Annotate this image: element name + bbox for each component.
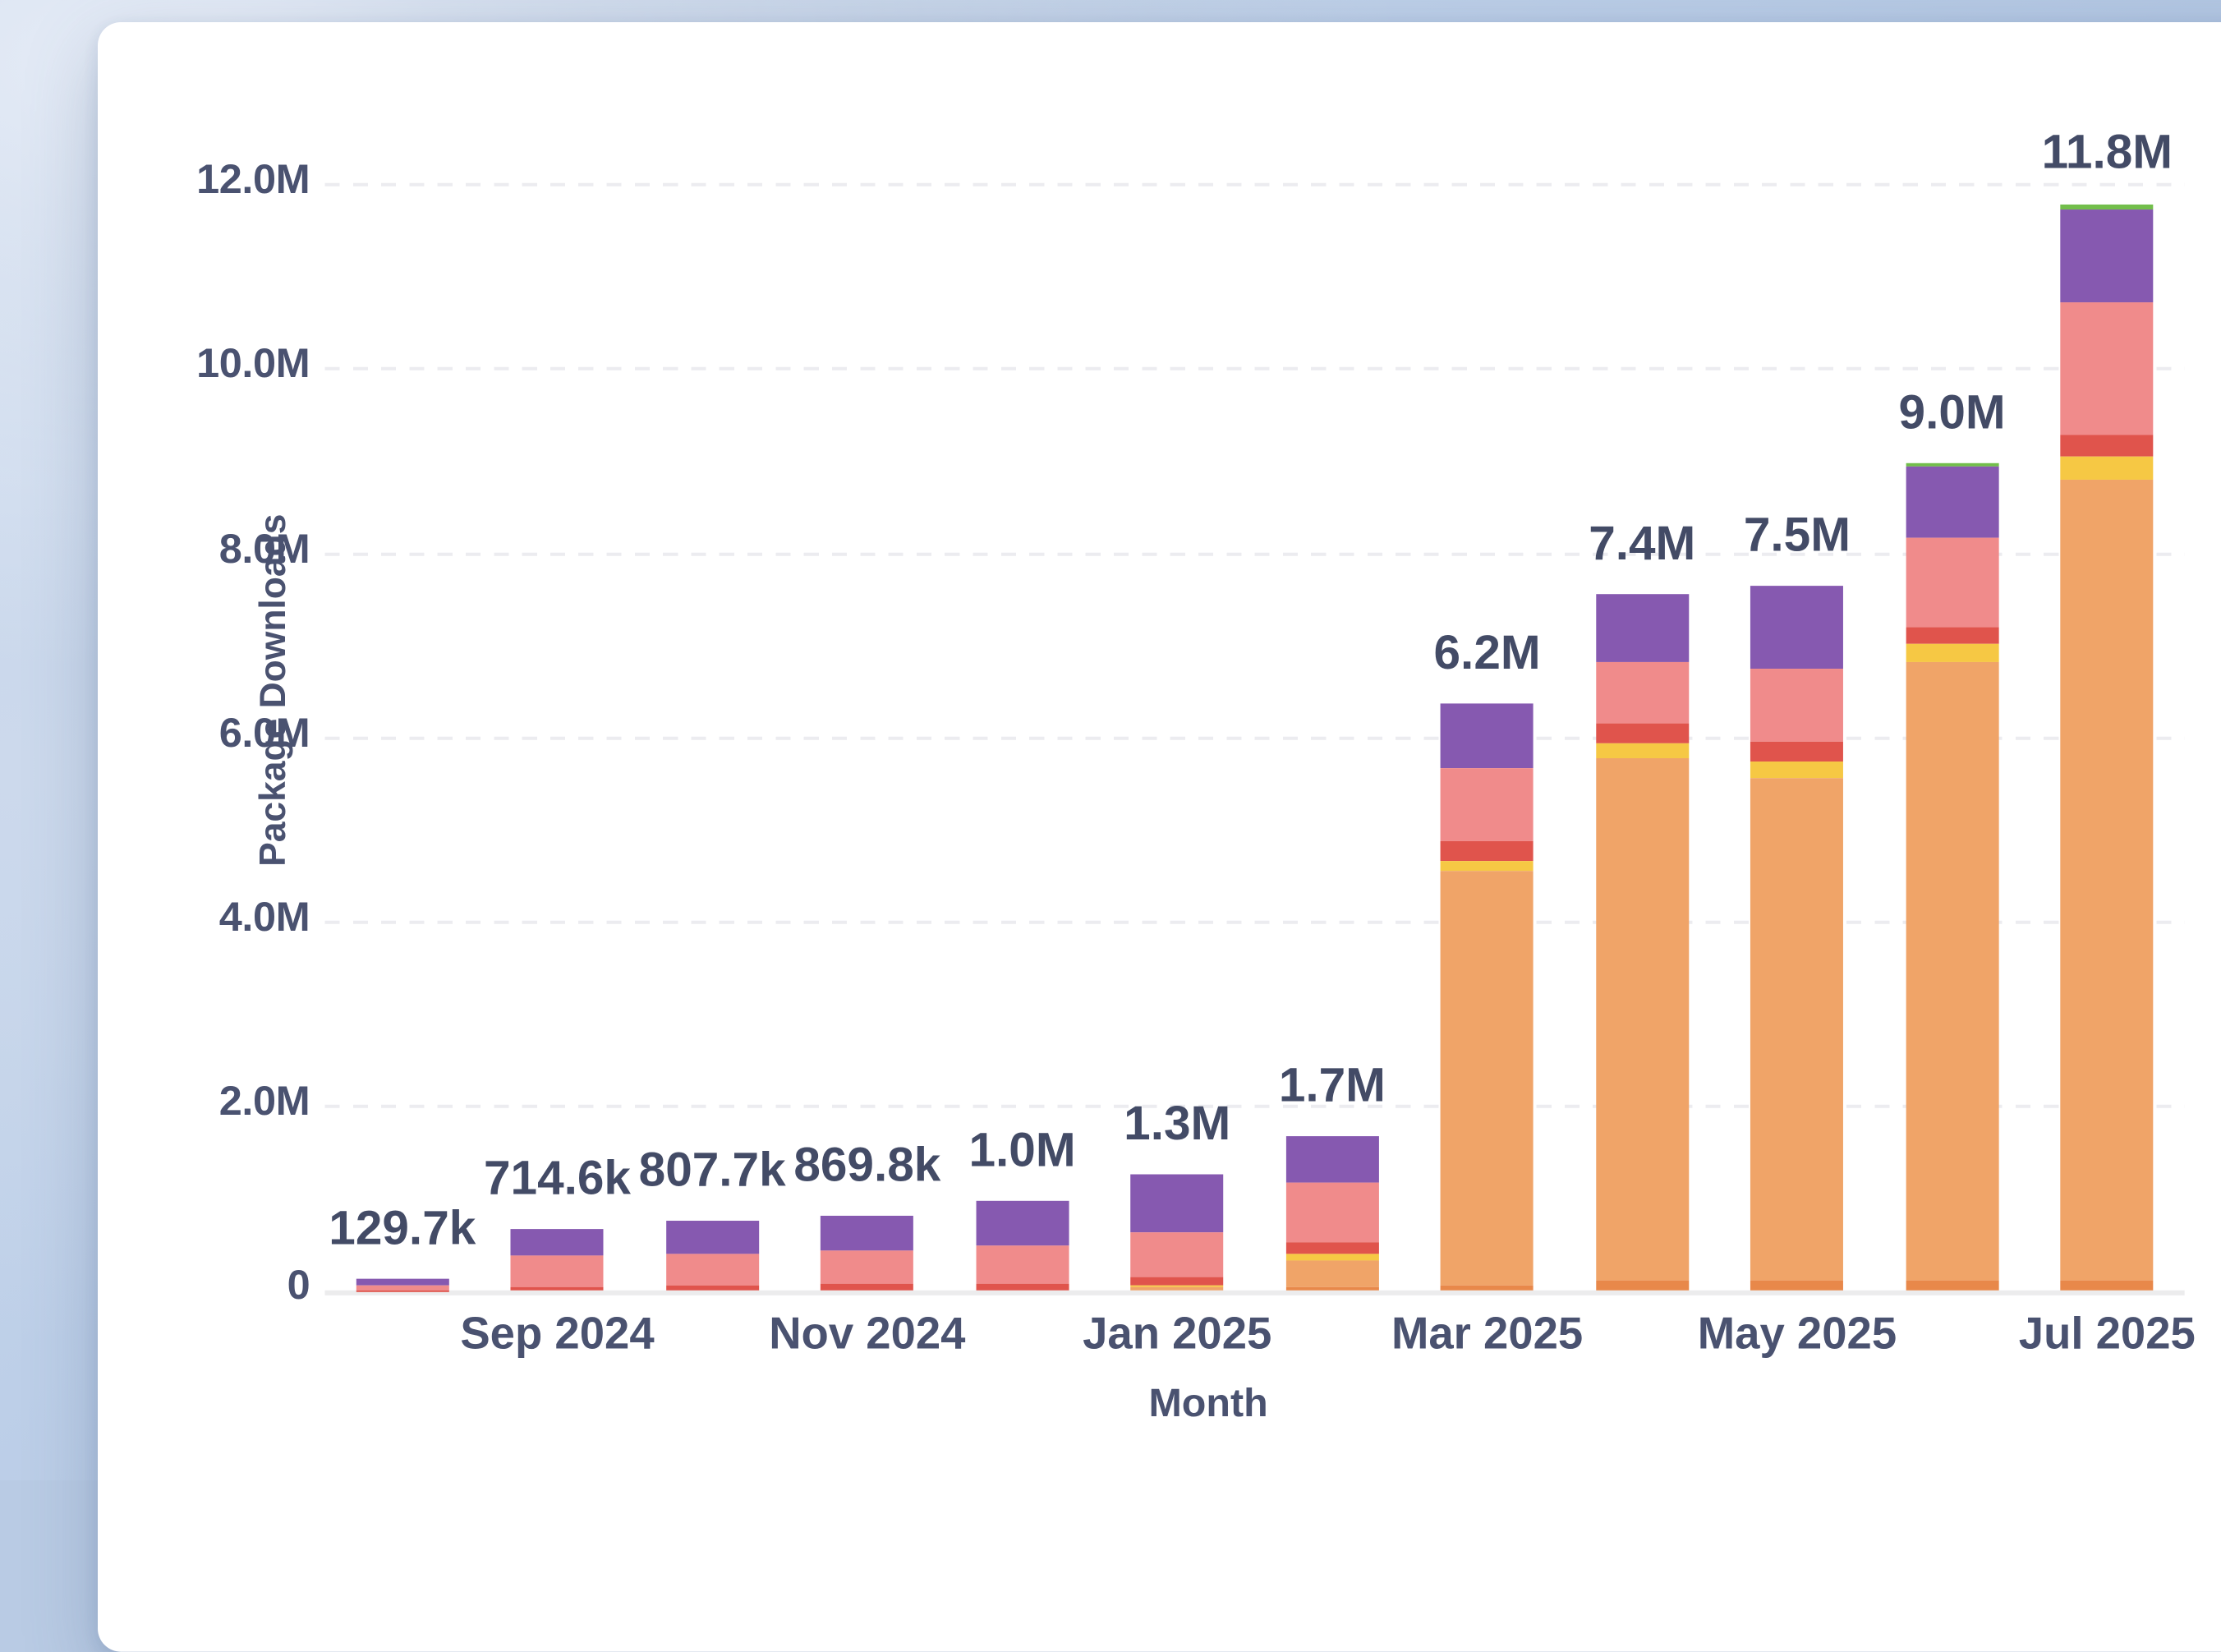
bar-segment[interactable]: [1285, 1241, 1378, 1254]
x-axis-tick-label: Jul 2025: [1924, 1309, 2221, 1360]
screenshot-stage: 02.0M4.0M6.0M8.0M10.0M12.0MPackage Downl…: [0, 0, 2221, 1480]
bar-stack[interactable]: [1596, 594, 1689, 1291]
bar-segment[interactable]: [1441, 768, 1534, 842]
bar-segment[interactable]: [666, 1253, 759, 1285]
bar-segment[interactable]: [1441, 1285, 1534, 1291]
bar-segment[interactable]: [1906, 643, 1998, 661]
bar-segment[interactable]: [821, 1284, 913, 1290]
bar-stack[interactable]: [821, 1216, 913, 1291]
bar-segment[interactable]: [666, 1286, 759, 1291]
bar-segment[interactable]: [2061, 209, 2154, 302]
bar-segment[interactable]: [1131, 1286, 1224, 1290]
bar-segment[interactable]: [1750, 1280, 1843, 1290]
bar-segment[interactable]: [1596, 594, 1689, 662]
x-axis-title: Month: [98, 1382, 2221, 1429]
bar-segment[interactable]: [356, 1290, 448, 1291]
bar-stack[interactable]: [1131, 1175, 1224, 1291]
bar-stack[interactable]: [1750, 586, 1843, 1291]
bar-segment[interactable]: [1131, 1277, 1224, 1285]
bar-segment[interactable]: [1906, 662, 1998, 1281]
y-axis-tick-label: 12.0M: [111, 157, 310, 205]
bar-segment[interactable]: [1906, 538, 1998, 627]
bar-segment[interactable]: [1906, 627, 1998, 643]
bar-segment[interactable]: [1750, 586, 1843, 669]
bar-segment[interactable]: [1441, 704, 1534, 768]
bar-segment[interactable]: [1285, 1254, 1378, 1260]
x-axis-line: [324, 1291, 2184, 1295]
bar-stack[interactable]: [976, 1200, 1069, 1291]
bar-segment[interactable]: [1750, 761, 1843, 778]
bar-segment[interactable]: [2061, 204, 2154, 209]
bar-total-label: 11.8M: [1924, 127, 2221, 182]
bar-stack[interactable]: [666, 1221, 759, 1291]
bar-segment[interactable]: [1596, 724, 1689, 743]
bar-segment[interactable]: [1750, 778, 1843, 1280]
chart-card: 02.0M4.0M6.0M8.0M10.0M12.0MPackage Downl…: [98, 22, 2221, 1652]
bar-stack[interactable]: [1906, 462, 1998, 1291]
bar-segment[interactable]: [1285, 1260, 1378, 1288]
bar-segment[interactable]: [511, 1256, 604, 1286]
gridline: [324, 183, 2184, 186]
bar-segment[interactable]: [511, 1228, 604, 1256]
bar-segment[interactable]: [1131, 1175, 1224, 1233]
bar-segment[interactable]: [1906, 1281, 1998, 1291]
y-axis-tick-label: 10.0M: [111, 341, 310, 389]
bar-segment[interactable]: [976, 1283, 1069, 1290]
bar-segment[interactable]: [1285, 1137, 1378, 1183]
gridline: [324, 368, 2184, 371]
bar-segment[interactable]: [821, 1250, 913, 1284]
bar-segment[interactable]: [1596, 759, 1689, 1281]
bar-segment[interactable]: [1131, 1232, 1224, 1277]
bar-segment[interactable]: [976, 1200, 1069, 1245]
bar-segment[interactable]: [356, 1278, 448, 1286]
bar-segment[interactable]: [1750, 742, 1843, 762]
bar-segment[interactable]: [976, 1245, 1069, 1283]
bar-segment[interactable]: [1441, 860, 1534, 870]
bar-segment[interactable]: [1285, 1183, 1378, 1242]
bar-segment[interactable]: [1906, 467, 1998, 538]
bar-segment[interactable]: [1750, 669, 1843, 742]
y-axis-tick-label: 0: [111, 1262, 310, 1310]
bar-stack[interactable]: [1441, 704, 1534, 1291]
bar-stack[interactable]: [1285, 1137, 1378, 1291]
bar-segment[interactable]: [1596, 743, 1689, 759]
bar-segment[interactable]: [2061, 1280, 2154, 1290]
bar-stack[interactable]: [2061, 204, 2154, 1291]
bar-segment[interactable]: [1441, 842, 1534, 860]
stacked-bar-chart: 02.0M4.0M6.0M8.0M10.0M12.0MPackage Downl…: [98, 22, 2221, 1652]
bar-segment[interactable]: [2061, 435, 2154, 457]
bar-segment[interactable]: [2061, 302, 2154, 435]
y-axis-title: Package Downloads: [252, 442, 295, 939]
bar-segment[interactable]: [1596, 662, 1689, 724]
bar-segment[interactable]: [821, 1216, 913, 1250]
bar-segment[interactable]: [2061, 457, 2154, 479]
bar-stack[interactable]: [511, 1228, 604, 1291]
bar-stack[interactable]: [356, 1278, 448, 1291]
bar-segment[interactable]: [1285, 1287, 1378, 1290]
bar-segment[interactable]: [1596, 1280, 1689, 1290]
y-axis-tick-label: 2.0M: [111, 1078, 310, 1126]
bar-segment[interactable]: [666, 1221, 759, 1254]
bar-segment[interactable]: [1441, 871, 1534, 1285]
bar-segment[interactable]: [2061, 479, 2154, 1280]
bar-segment[interactable]: [511, 1286, 604, 1291]
